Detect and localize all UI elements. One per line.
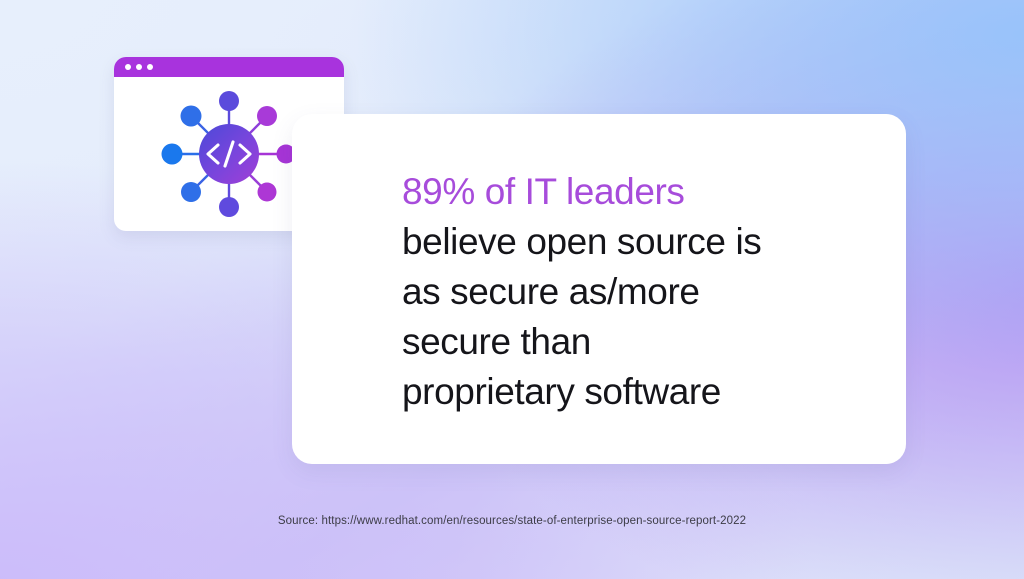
headline-text: 89% of IT leaders believe open source is… <box>402 167 882 417</box>
traffic-light-dot-1 <box>125 64 131 70</box>
traffic-light-dot-3 <box>147 64 153 70</box>
browser-titlebar <box>114 57 344 77</box>
node-top-left <box>181 106 202 127</box>
node-left <box>162 144 183 165</box>
headline-line-2: believe open source is <box>402 217 882 267</box>
node-top <box>219 91 239 111</box>
node-top-right <box>257 106 277 126</box>
traffic-light-dot-2 <box>136 64 142 70</box>
node-bottom <box>219 197 239 217</box>
node-bottom-right <box>258 183 277 202</box>
code-network-diagram <box>154 83 304 225</box>
headline-line-4: secure than <box>402 317 882 367</box>
headline-line-1: 89% of IT leaders <box>402 167 882 217</box>
headline-line-5: proprietary software <box>402 367 882 417</box>
statistic-card: 89% of IT leaders believe open source is… <box>292 114 906 464</box>
source-attribution: Source: https://www.redhat.com/en/resour… <box>0 515 1024 527</box>
headline-line-3: as secure as/more <box>402 267 882 317</box>
node-bottom-left <box>181 182 201 202</box>
